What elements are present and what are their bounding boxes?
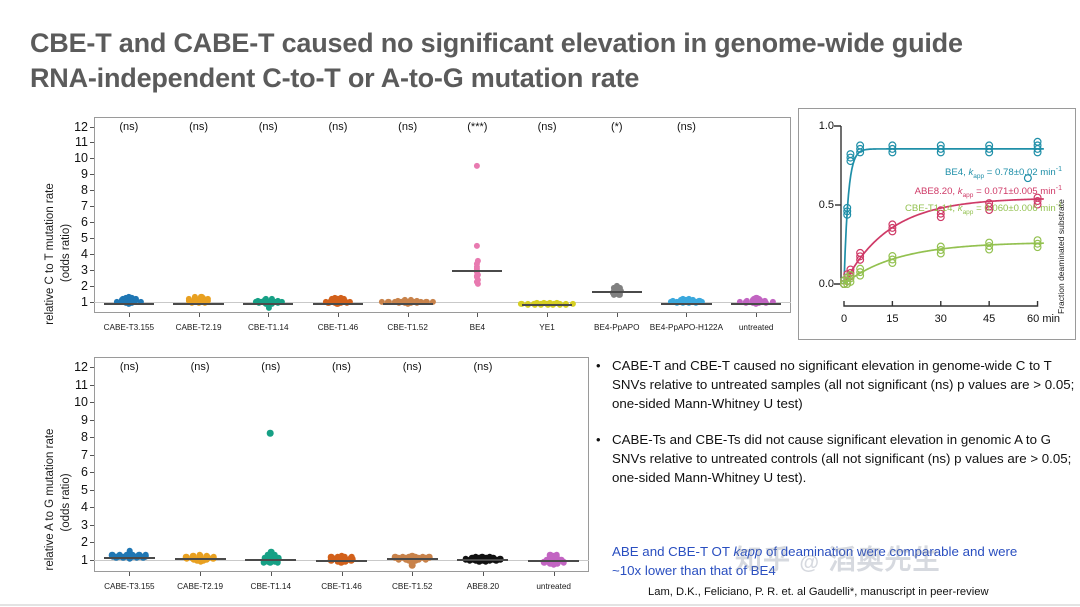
significance-label: (ns) (189, 121, 208, 133)
median-line (243, 303, 293, 305)
y-tick-mark (90, 455, 94, 456)
a-to-g-plot-area (94, 357, 589, 572)
kinetics-legend-item: CBE-T1.14, kapp = 0.060±0.006 min-1 (905, 202, 1062, 216)
y-tick-label: 12 (64, 122, 88, 132)
median-line (313, 303, 363, 305)
median-line (528, 560, 579, 562)
y-tick-mark (90, 490, 94, 491)
legend-k-subscript: app (963, 209, 974, 216)
y-tick-label: 8 (64, 432, 88, 442)
c-to-t-y-axis-label-line1: relative C to T mutation rate (44, 154, 56, 354)
citation: Lam, D.K., Feliciano, P. R. et. al Gaude… (648, 586, 1078, 598)
y-tick-label: 8 (64, 185, 88, 195)
y-tick-label: 1 (64, 297, 88, 307)
kinetics-svg (798, 108, 1076, 340)
kinetics-x-tick-label: 30 (935, 313, 947, 325)
x-tick-label: CBE-T1.14 (248, 323, 289, 332)
y-tick-mark (90, 525, 94, 526)
x-tick-label: CBE-T1.46 (318, 323, 359, 332)
x-tick-mark (129, 313, 130, 317)
median-line (316, 560, 367, 562)
y-tick-mark (90, 472, 94, 473)
y-tick-mark (90, 402, 94, 403)
median-line (452, 270, 502, 272)
y-tick-label: 2 (64, 281, 88, 291)
y-tick-label: 3 (64, 265, 88, 275)
y-tick-label: 1 (64, 555, 88, 565)
x-tick-mark (554, 572, 555, 576)
legend-unit-exponent: -1 (1056, 185, 1062, 192)
y-tick-label: 9 (64, 415, 88, 425)
median-line (457, 559, 508, 561)
legend-k-subscript: app (973, 173, 984, 180)
median-line (731, 303, 781, 305)
c-to-t-plot-area (94, 117, 791, 313)
kinetics-legend-item: ABE8.20, kapp = 0.071±0.005 min-1 (915, 185, 1062, 199)
x-tick-label: untreated (739, 323, 774, 332)
y-tick-label: 12 (64, 362, 88, 372)
x-tick-mark (617, 313, 618, 317)
legend-k-subscript: app (963, 192, 974, 199)
chart-c-to-t: relative C to T mutation rate (odds rati… (30, 112, 795, 342)
blue-note-part-a: ABE and CBE-T OT (612, 544, 733, 559)
median-line (383, 303, 433, 305)
x-tick-mark (756, 313, 757, 317)
median-line (245, 559, 296, 561)
significance-label: (ns) (332, 361, 351, 373)
bullet-marker: • (596, 356, 612, 414)
significance-label: (ns) (398, 121, 417, 133)
legend-k-value: = 0.071±0.005 min (973, 186, 1055, 197)
blue-note-kapp: kapp (733, 544, 762, 559)
significance-label: (ns) (261, 361, 280, 373)
kinetics-x-tick-label: 60 min (1027, 313, 1060, 325)
significance-label: (ns) (328, 121, 347, 133)
x-tick-label: untreated (536, 582, 571, 591)
y-tick-label: 3 (64, 520, 88, 530)
bullet-list: • CABE-T and CBE-T caused no significant… (596, 356, 1076, 503)
y-tick-label: 4 (64, 249, 88, 259)
x-tick-mark (342, 572, 343, 576)
y-tick-label: 11 (64, 380, 88, 390)
kinetics-x-tick-label: 0 (841, 313, 847, 325)
x-tick-label: CABE-T3.155 (104, 323, 155, 332)
significance-label: (ns) (473, 361, 492, 373)
bullet-marker: • (596, 430, 612, 488)
legend-k-value: = 0.78±0.02 min (984, 167, 1056, 178)
x-tick-mark (200, 572, 201, 576)
significance-label: (*) (611, 121, 623, 133)
y-tick-mark (90, 222, 94, 223)
y-tick-label: 4 (64, 502, 88, 512)
y-tick-label: 5 (64, 485, 88, 495)
x-tick-mark (686, 313, 687, 317)
x-tick-label: BE4-PpAPO (594, 323, 640, 332)
kinetics-y-tick-label: 0.0 (804, 278, 834, 290)
significance-label: (ns) (191, 361, 210, 373)
blue-summary-note: ABE and CBE-T OT kapp of deamination wer… (612, 543, 1032, 580)
bullet-text: CABE-Ts and CBE-Ts did not cause signifi… (612, 430, 1076, 488)
x-tick-mark (129, 572, 130, 576)
x-tick-mark (199, 313, 200, 317)
x-tick-label: YE1 (539, 323, 554, 332)
y-tick-mark (90, 206, 94, 207)
y-tick-mark (90, 437, 94, 438)
y-tick-label: 5 (64, 233, 88, 243)
y-tick-mark (90, 127, 94, 128)
y-tick-label: 7 (64, 450, 88, 460)
median-line (592, 291, 642, 293)
page-title: CBE-T and CABE-T caused no significant e… (30, 26, 990, 96)
y-tick-label: 2 (64, 537, 88, 547)
significance-label: (ns) (259, 121, 278, 133)
chart-a-to-g: relative A to G mutation rate (odds rati… (30, 352, 590, 604)
kinetics-x-tick-label: 15 (886, 313, 898, 325)
x-tick-label: ABE8.20 (467, 582, 499, 591)
legend-series-name: CBE-T1.14, (905, 203, 958, 214)
data-point (267, 430, 274, 437)
y-tick-mark (90, 507, 94, 508)
legend-unit-exponent: -1 (1056, 202, 1062, 209)
y-tick-label: 7 (64, 201, 88, 211)
significance-label: (ns) (120, 361, 139, 373)
slide: CBE-T and CABE-T caused no significant e… (0, 0, 1080, 606)
y-tick-label: 10 (64, 153, 88, 163)
y-tick-mark (90, 254, 94, 255)
y-tick-mark (90, 174, 94, 175)
legend-unit-exponent: -1 (1056, 166, 1062, 173)
kinetics-y-tick-label: 0.5 (804, 199, 834, 211)
x-tick-mark (338, 313, 339, 317)
x-tick-label: CBE-T1.46 (321, 582, 362, 591)
x-tick-label: CBE-T1.14 (251, 582, 292, 591)
x-tick-label: CABE-T2.19 (177, 582, 223, 591)
x-tick-label: BE4-PpAPO-H122A (650, 323, 723, 332)
x-tick-mark (408, 313, 409, 317)
significance-label: (ns) (677, 121, 696, 133)
list-item: • CABE-Ts and CBE-Ts did not cause signi… (596, 430, 1076, 488)
y-tick-mark (90, 238, 94, 239)
a-to-g-y-axis-label-line1: relative A to G mutation rate (44, 392, 56, 607)
data-point (409, 562, 416, 569)
x-tick-label: CBE-T1.52 (387, 323, 428, 332)
y-tick-mark (90, 542, 94, 543)
significance-label: (ns) (403, 361, 422, 373)
significance-label: (ns) (538, 121, 557, 133)
significance-label: (ns) (119, 121, 138, 133)
x-tick-mark (268, 313, 269, 317)
y-tick-mark (90, 190, 94, 191)
median-line (522, 304, 572, 306)
x-tick-mark (477, 313, 478, 317)
x-tick-label: BE4 (470, 323, 485, 332)
median-line (173, 303, 223, 305)
kinetics-y-tick-label: 1.0 (804, 120, 834, 132)
x-tick-mark (412, 572, 413, 576)
y-tick-mark (90, 158, 94, 159)
x-tick-mark (547, 313, 548, 317)
kinetics-x-tick-label: 45 (983, 313, 995, 325)
legend-series-name: ABE8.20, (915, 186, 958, 197)
x-tick-label: CABE-T2.19 (176, 323, 222, 332)
bullet-text: CABE-T and CBE-T caused no significant e… (612, 356, 1076, 414)
x-tick-label: CABE-T3.155 (104, 582, 155, 591)
median-line (104, 303, 154, 305)
y-tick-label: 6 (64, 217, 88, 227)
significance-label: (***) (467, 121, 487, 133)
x-tick-mark (483, 572, 484, 576)
y-tick-mark (90, 142, 94, 143)
median-line (661, 303, 711, 305)
y-tick-label: 6 (64, 467, 88, 477)
y-tick-mark (90, 420, 94, 421)
y-tick-label: 10 (64, 397, 88, 407)
y-tick-mark (90, 286, 94, 287)
x-tick-mark (271, 572, 272, 576)
chart-kinetics: Fraction deaminated substrate 0.00.51.00… (798, 108, 1076, 340)
y-tick-mark (90, 385, 94, 386)
median-line (104, 557, 155, 559)
legend-k-value: = 0.060±0.006 min (973, 203, 1055, 214)
kinetics-legend-item: BE4, kapp = 0.78±0.02 min-1 (945, 166, 1062, 180)
median-line (387, 558, 438, 560)
x-tick-label: CBE-T1.52 (392, 582, 433, 591)
median-line (175, 558, 226, 560)
y-tick-mark (90, 367, 94, 368)
legend-series-name: BE4, (945, 167, 968, 178)
list-item: • CABE-T and CBE-T caused no significant… (596, 356, 1076, 414)
y-tick-label: 9 (64, 169, 88, 179)
y-tick-mark (90, 270, 94, 271)
y-tick-label: 11 (64, 137, 88, 147)
